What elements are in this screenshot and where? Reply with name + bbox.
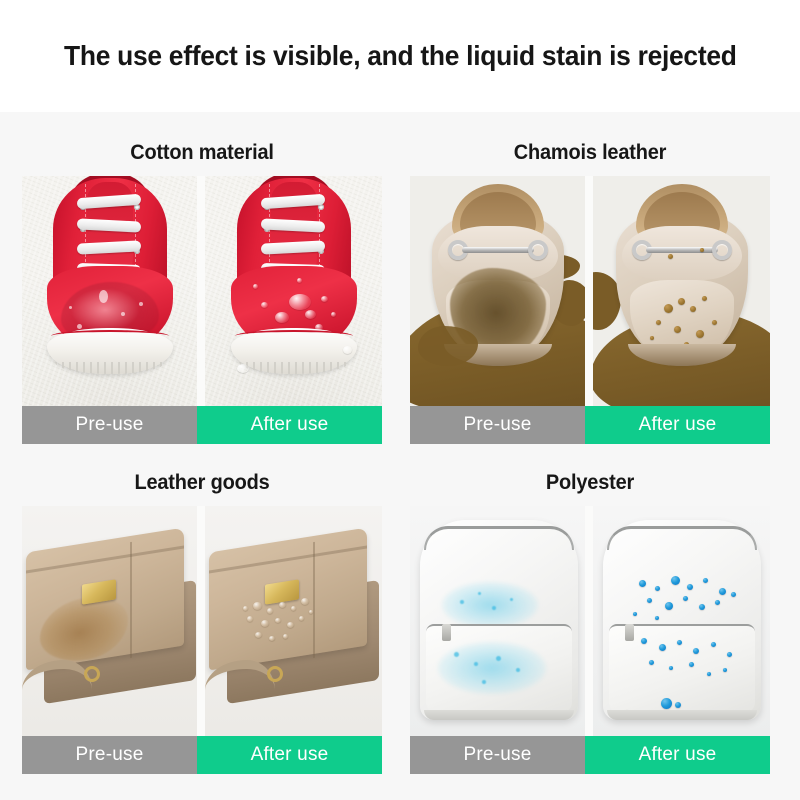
- ink-droplet: [687, 584, 693, 590]
- mud-droplet: [712, 320, 717, 325]
- top-zipper: [607, 526, 757, 550]
- ink-droplet: [693, 648, 699, 654]
- comparison-image-leather: [22, 506, 382, 736]
- ink-droplet: [689, 662, 694, 667]
- ink-droplet: [719, 588, 726, 595]
- ink-droplet: [683, 596, 688, 601]
- water-droplet: [321, 296, 328, 302]
- ink-droplet: [633, 612, 637, 616]
- ink-stain-absorbed: [438, 642, 546, 694]
- image-divider: [585, 176, 593, 406]
- ink-droplet: [715, 600, 720, 605]
- liquid-droplet: [309, 610, 313, 614]
- label-bar-polyester: Pre-use After use: [410, 736, 770, 774]
- liquid-droplet: [279, 602, 286, 608]
- liquid-droplet: [253, 602, 262, 610]
- section-cotton: Cotton material: [22, 130, 382, 444]
- backpack-graphic: [603, 520, 761, 720]
- section-heading-leather: Leather goods: [31, 460, 373, 506]
- water-droplet: [343, 346, 352, 354]
- loafer-graphic: [616, 184, 748, 372]
- image-divider: [585, 506, 593, 736]
- ink-stain-absorbed: [442, 582, 538, 628]
- section-chamois: Chamois leather: [410, 130, 770, 444]
- ink-droplet: [675, 702, 681, 708]
- liquid-droplet: [301, 598, 309, 605]
- ink-droplet: [711, 642, 716, 647]
- top-zipper: [424, 526, 574, 550]
- section-heading-polyester: Polyester: [419, 460, 761, 506]
- zipper-pull: [625, 624, 634, 641]
- water-droplet: [297, 278, 302, 283]
- section-polyester: Polyester: [410, 460, 770, 774]
- water-droplet: [331, 312, 336, 317]
- image-divider: [197, 506, 205, 736]
- liquid-droplet: [243, 606, 248, 611]
- mud-droplet: [664, 304, 673, 313]
- section-heading-cotton: Cotton material: [31, 130, 373, 176]
- comparison-image-chamois: [410, 176, 770, 406]
- mud-droplet: [696, 330, 704, 338]
- ink-droplet: [659, 644, 666, 651]
- section-heading-chamois: Chamois leather: [419, 130, 761, 176]
- label-before-polyester: Pre-use: [410, 736, 585, 774]
- ink-droplet: [707, 672, 711, 676]
- liquid-droplet: [299, 616, 304, 621]
- ink-droplet: [655, 586, 660, 591]
- mud-droplet: [656, 320, 661, 325]
- ink-droplet: [639, 580, 646, 587]
- sneaker-graphic: [231, 178, 357, 378]
- liquid-droplet: [261, 620, 269, 627]
- mud-droplet: [650, 336, 654, 340]
- liquid-droplet: [255, 632, 262, 638]
- liquid-droplet: [287, 622, 294, 628]
- before-image-cotton: [22, 176, 197, 406]
- ink-droplet: [649, 660, 654, 665]
- label-after-leather: After use: [197, 736, 382, 774]
- ink-droplet: [723, 668, 727, 672]
- label-after-polyester: After use: [585, 736, 770, 774]
- page-header: The use effect is visible, and the liqui…: [0, 0, 800, 112]
- liquid-droplet: [291, 606, 296, 611]
- label-before-chamois: Pre-use: [410, 406, 585, 444]
- sneaker-graphic: [47, 178, 173, 378]
- mud-droplet: [702, 296, 707, 301]
- ink-droplet: [699, 604, 705, 610]
- ink-droplet: [655, 616, 659, 620]
- water-droplet: [237, 364, 249, 373]
- after-image-chamois: [593, 176, 770, 406]
- water-droplet: [289, 294, 311, 310]
- label-after-cotton: After use: [197, 406, 382, 444]
- after-image-polyester: [593, 506, 770, 736]
- zipper-pull: [442, 624, 451, 641]
- water-droplet: [275, 312, 289, 323]
- water-droplet: [261, 302, 268, 308]
- mud-droplet: [674, 326, 681, 333]
- backpack-graphic: [420, 520, 578, 720]
- ink-droplet: [665, 602, 673, 610]
- liquid-droplet: [267, 608, 273, 614]
- comparison-image-cotton: [22, 176, 382, 406]
- ink-droplet: [727, 652, 732, 657]
- section-leather: Leather goods: [22, 460, 382, 774]
- image-divider: [197, 176, 205, 406]
- after-image-leather: [205, 506, 382, 736]
- ink-droplet: [677, 640, 682, 645]
- mud-droplet: [678, 298, 685, 305]
- mud-droplet: [700, 248, 704, 252]
- liquid-droplet: [269, 636, 275, 641]
- label-after-chamois: After use: [585, 406, 770, 444]
- label-before-cotton: Pre-use: [22, 406, 197, 444]
- ink-droplet: [661, 698, 672, 709]
- mud-droplet: [690, 306, 696, 312]
- water-droplet: [253, 284, 258, 289]
- before-image-chamois: [410, 176, 585, 406]
- before-image-leather: [22, 506, 197, 736]
- liquid-droplet: [275, 618, 281, 623]
- label-bar-leather: Pre-use After use: [22, 736, 382, 774]
- horsebit-hardware: [448, 240, 548, 260]
- horsebit-hardware: [632, 240, 732, 260]
- label-before-leather: Pre-use: [22, 736, 197, 774]
- label-bar-cotton: Pre-use After use: [22, 406, 382, 444]
- page-title: The use effect is visible, and the liqui…: [64, 40, 737, 72]
- strap-ring: [84, 666, 100, 682]
- strap-ring: [267, 666, 283, 682]
- handbag-graphic: [26, 540, 197, 702]
- ink-droplet: [671, 576, 680, 585]
- before-image-polyester: [410, 506, 585, 736]
- ink-droplet: [703, 578, 708, 583]
- liquid-droplet: [247, 616, 253, 622]
- water-droplet: [305, 310, 316, 319]
- liquid-droplet: [283, 634, 288, 639]
- handbag-graphic: [209, 540, 381, 702]
- label-bar-chamois: Pre-use After use: [410, 406, 770, 444]
- ink-droplet: [731, 592, 736, 597]
- mud-droplet: [668, 254, 673, 259]
- ink-droplet: [647, 598, 652, 603]
- comparison-image-polyester: [410, 506, 770, 736]
- ink-droplet: [669, 666, 673, 670]
- after-image-cotton: [205, 176, 382, 406]
- ink-droplet: [641, 638, 647, 644]
